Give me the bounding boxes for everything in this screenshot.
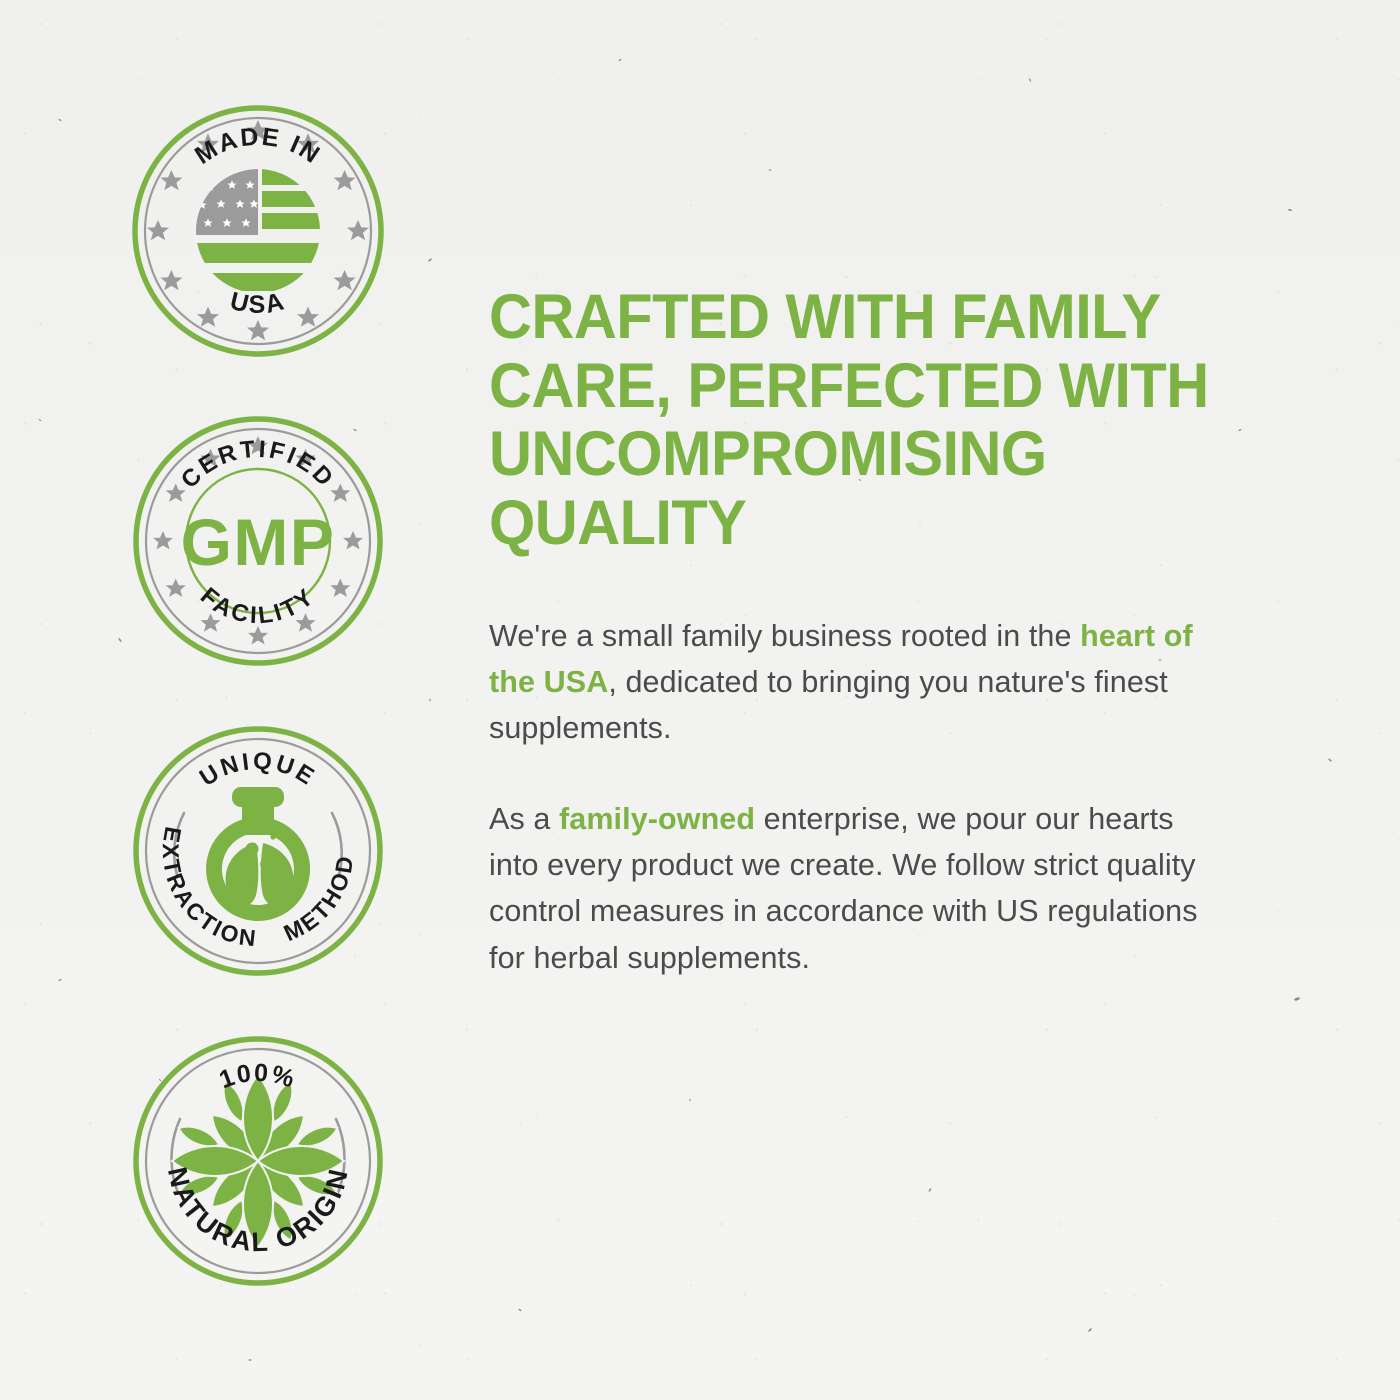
badge-gmp-certified-facility: GMP CERTIFIED FACILITY (132, 415, 384, 667)
gmp-text-icon: GMP (181, 505, 336, 579)
badge-natural-origin: 100% NATURAL ORIGIN (132, 1035, 384, 1287)
paragraph-2-highlight: family-owned (559, 802, 755, 836)
badge-top-label: UNIQUE (195, 748, 321, 792)
paragraph-2-part-1: As a (489, 802, 559, 836)
trust-badge-column: MADE IN USA (132, 105, 384, 1287)
paragraph-1: We're a small family business rooted in … (489, 613, 1204, 752)
badge-bottom-label: USA (227, 287, 288, 319)
badge-unique-extraction-method: UNIQUE EXTRACTION METHOD (132, 725, 384, 977)
paragraph-2: As a family-owned enterprise, we pour ou… (489, 796, 1204, 981)
body-copy: We're a small family business rooted in … (489, 613, 1204, 982)
badge-made-in-usa: MADE IN USA (132, 105, 384, 357)
page-headline: CRAFTED WITH FAMILY CARE, PERFECTED WITH… (489, 283, 1217, 558)
flask-leaf-icon (206, 787, 310, 921)
paragraph-1-part-1: We're a small family business rooted in … (489, 619, 1080, 653)
usa-flag-circle-icon (182, 169, 362, 291)
copy-column: CRAFTED WITH FAMILY CARE, PERFECTED WITH… (489, 283, 1259, 981)
